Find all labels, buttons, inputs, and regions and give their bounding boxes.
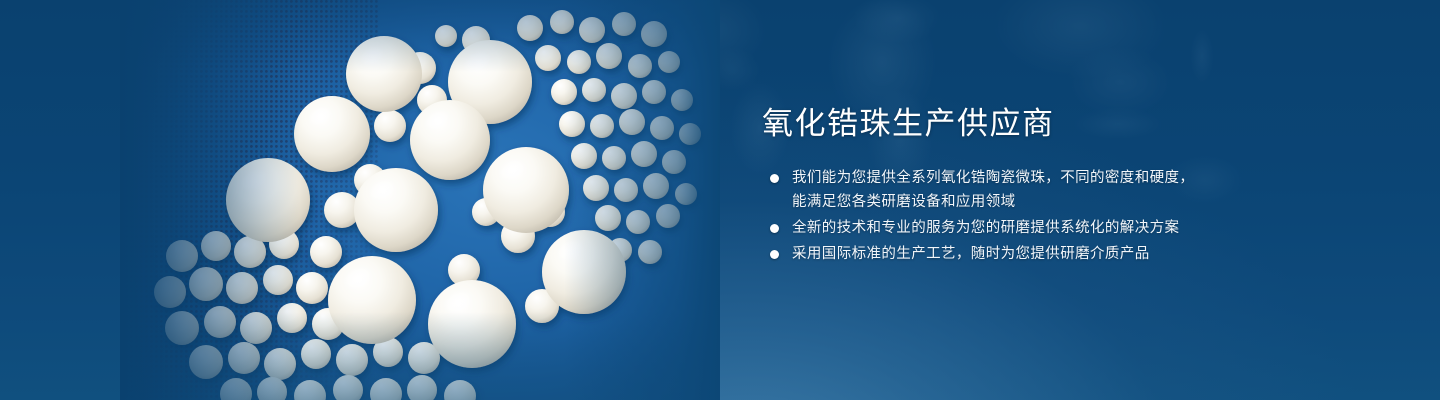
bullet-line: 采用国际标准的生产工艺，随时为您提供研磨介质产品 (792, 242, 1322, 266)
photo-edge-fade (120, 0, 720, 400)
bullet-line: 能满足您各类研磨设备和应用领域 (792, 190, 1322, 214)
banner-headline: 氧化锆珠生产供应商 (762, 104, 1322, 144)
hero-banner: 氧化锆珠生产供应商 我们能为您提供全系列氧化锆陶瓷微珠，不同的密度和硬度， 能满… (0, 0, 1440, 400)
zirconia-beads-photo (120, 0, 720, 400)
bullet-item: 我们能为您提供全系列氧化锆陶瓷微珠，不同的密度和硬度， 能满足您各类研磨设备和应… (762, 166, 1322, 214)
banner-bullet-list: 我们能为您提供全系列氧化锆陶瓷微珠，不同的密度和硬度， 能满足您各类研磨设备和应… (762, 166, 1322, 266)
bullet-dot-icon (770, 224, 779, 233)
bullet-item: 采用国际标准的生产工艺，随时为您提供研磨介质产品 (762, 242, 1322, 266)
bullet-line: 全新的技术和专业的服务为您的研磨提供系统化的解决方案 (792, 216, 1322, 240)
bullet-item: 全新的技术和专业的服务为您的研磨提供系统化的解决方案 (762, 216, 1322, 240)
banner-content: 氧化锆珠生产供应商 我们能为您提供全系列氧化锆陶瓷微珠，不同的密度和硬度， 能满… (762, 104, 1322, 268)
bullet-dot-icon (770, 174, 779, 183)
bullet-dot-icon (770, 250, 779, 259)
bullet-line: 我们能为您提供全系列氧化锆陶瓷微珠，不同的密度和硬度， (792, 166, 1322, 190)
